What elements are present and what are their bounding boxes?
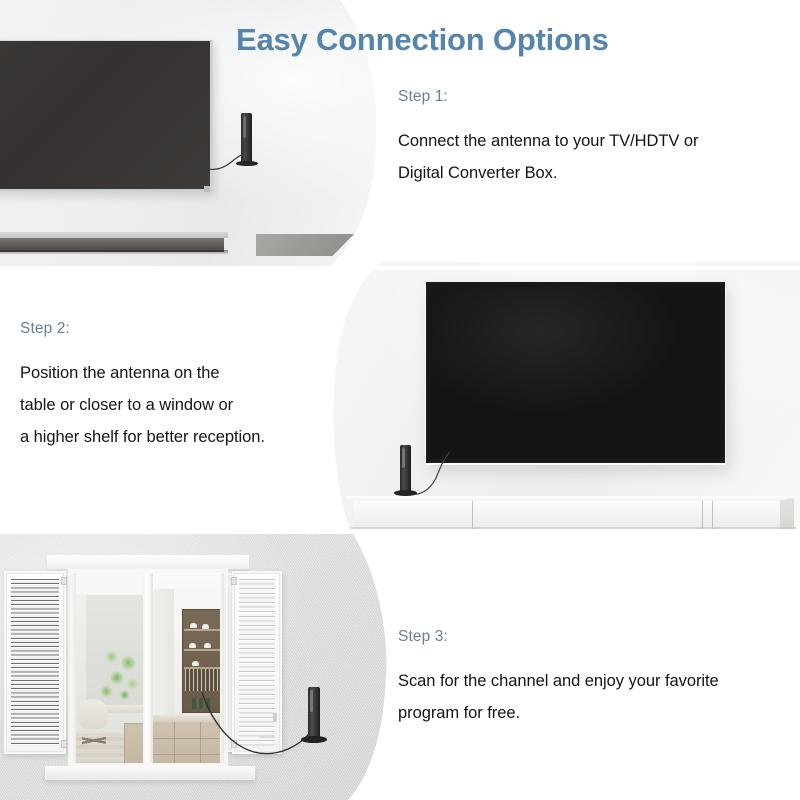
window-sill — [45, 766, 255, 780]
shutter-hinge — [231, 577, 237, 585]
television-screen — [0, 40, 213, 191]
shutter-left — [4, 571, 66, 754]
ceiling-band — [72, 573, 148, 595]
antenna-stand — [236, 161, 258, 166]
shutter-louvers — [11, 579, 59, 746]
tv-corner-bracket — [204, 186, 210, 192]
panel-gutter — [0, 529, 800, 534]
sideboard-body — [354, 501, 780, 529]
step-3-body: Scan for the channel and enjoy your favo… — [398, 665, 788, 729]
step-1-body: Connect the antenna to your TV/HDTV or D… — [398, 125, 778, 189]
step-2-label: Step 2: — [20, 320, 350, 338]
dish-item — [204, 643, 211, 648]
step-1-line-1: Connect the antenna to your TV/HDTV or — [398, 125, 778, 157]
step-2-block: Step 2: Position the antenna on the tabl… — [20, 320, 350, 453]
television-screen — [431, 287, 720, 458]
drawer-seam — [712, 501, 713, 529]
drawer-divider — [174, 722, 175, 763]
shelf-board — [184, 649, 220, 651]
television-frame — [426, 282, 725, 463]
step-2-body: Position the antenna on the table or clo… — [20, 357, 350, 453]
shutter-hinge — [61, 577, 67, 585]
step-3-line-2: program for free. — [398, 697, 788, 729]
antenna-highlight — [243, 116, 246, 138]
step-3-line-1: Scan for the channel and enjoy your favo… — [398, 665, 788, 697]
shelf-wire-basket — [185, 669, 219, 691]
drawer-seam — [702, 501, 703, 529]
dish-item — [192, 661, 199, 666]
sash-bar — [72, 573, 76, 763]
dish-item — [190, 623, 197, 628]
sideboard-side-panel — [780, 498, 794, 529]
shelf-shadow — [0, 250, 228, 255]
panel-gutter — [0, 266, 800, 270]
shutter-hinge — [61, 740, 67, 748]
interior-dining-view — [72, 573, 148, 763]
step-1-label: Step 1: — [398, 88, 778, 106]
antenna-stand — [301, 736, 327, 743]
step-2-line-2: table or closer to a window or — [20, 389, 350, 421]
shelf-board — [184, 629, 220, 631]
antenna-highlight — [310, 690, 313, 712]
window-with-shutters-photo — [0, 533, 390, 800]
infographic-canvas: Easy Connection Options Step 1: Connect … — [0, 0, 800, 800]
dish-item — [189, 643, 196, 648]
page-title: Easy Connection Options — [236, 18, 656, 62]
step-1-line-2: Digital Converter Box. — [398, 157, 778, 189]
tv-on-sideboard-photo — [330, 262, 800, 529]
window-mullion — [143, 573, 153, 763]
step-2-line-1: Position the antenna on the — [20, 357, 350, 389]
chair-legs — [82, 725, 106, 755]
window-lintel — [47, 555, 249, 569]
step-2-line-3: a higher shelf for better reception. — [20, 421, 350, 453]
step-3-block: Step 3: Scan for the channel and enjoy y… — [398, 628, 788, 729]
house-plant — [96, 643, 148, 705]
dish-item — [202, 624, 209, 629]
antenna-highlight — [402, 448, 405, 468]
bottle-item — [192, 698, 196, 709]
step-3-label: Step 3: — [398, 628, 788, 646]
step-1-block: Step 1: Connect the antenna to your TV/H… — [398, 88, 778, 189]
antenna-cable — [200, 690, 320, 760]
drawer-seam — [472, 501, 473, 529]
